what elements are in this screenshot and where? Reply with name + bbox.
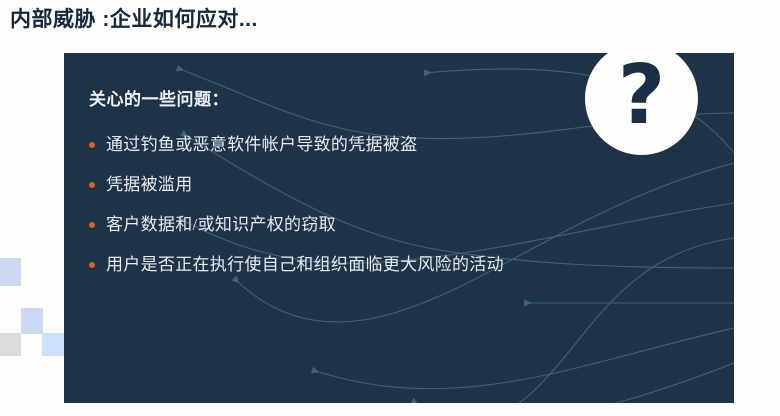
- bullet-dot-icon: [89, 222, 95, 228]
- decorative-square-2: [21, 308, 43, 334]
- list-item: 凭据被滥用: [89, 174, 504, 214]
- page-title: 内部威胁 :企业如何应对...: [10, 6, 258, 34]
- bullet-list: 通过钓鱼或恶意软件帐户导致的凭据被盗 凭据被滥用 客户数据和/或知识产权的窃取 …: [89, 134, 504, 294]
- decorative-square-1: [0, 258, 21, 286]
- list-item-label: 通过钓鱼或恶意软件帐户导致的凭据被盗: [106, 135, 417, 154]
- list-item: 通过钓鱼或恶意软件帐户导致的凭据被盗: [89, 134, 504, 174]
- question-mark-badge: ?: [585, 42, 698, 155]
- decorative-square-4: [42, 333, 64, 356]
- decorative-square-3: [0, 333, 21, 356]
- questions-heading: 关心的一些问题：: [89, 85, 229, 110]
- list-item-label: 凭据被滥用: [106, 175, 193, 194]
- list-item-label: 客户数据和/或知识产权的窃取: [106, 215, 336, 234]
- list-item: 客户数据和/或知识产权的窃取: [89, 214, 504, 254]
- bullet-dot-icon: [89, 142, 95, 148]
- question-mark-icon: ?: [585, 42, 698, 155]
- bullet-dot-icon: [89, 262, 95, 268]
- list-item-label: 用户是否正在执行使自己和组织面临更大风险的活动: [106, 255, 504, 274]
- slide-canvas: 内部威胁 :企业如何应对...: [0, 0, 780, 416]
- bullet-dot-icon: [89, 182, 95, 188]
- list-item: 用户是否正在执行使自己和组织面临更大风险的活动: [89, 254, 504, 294]
